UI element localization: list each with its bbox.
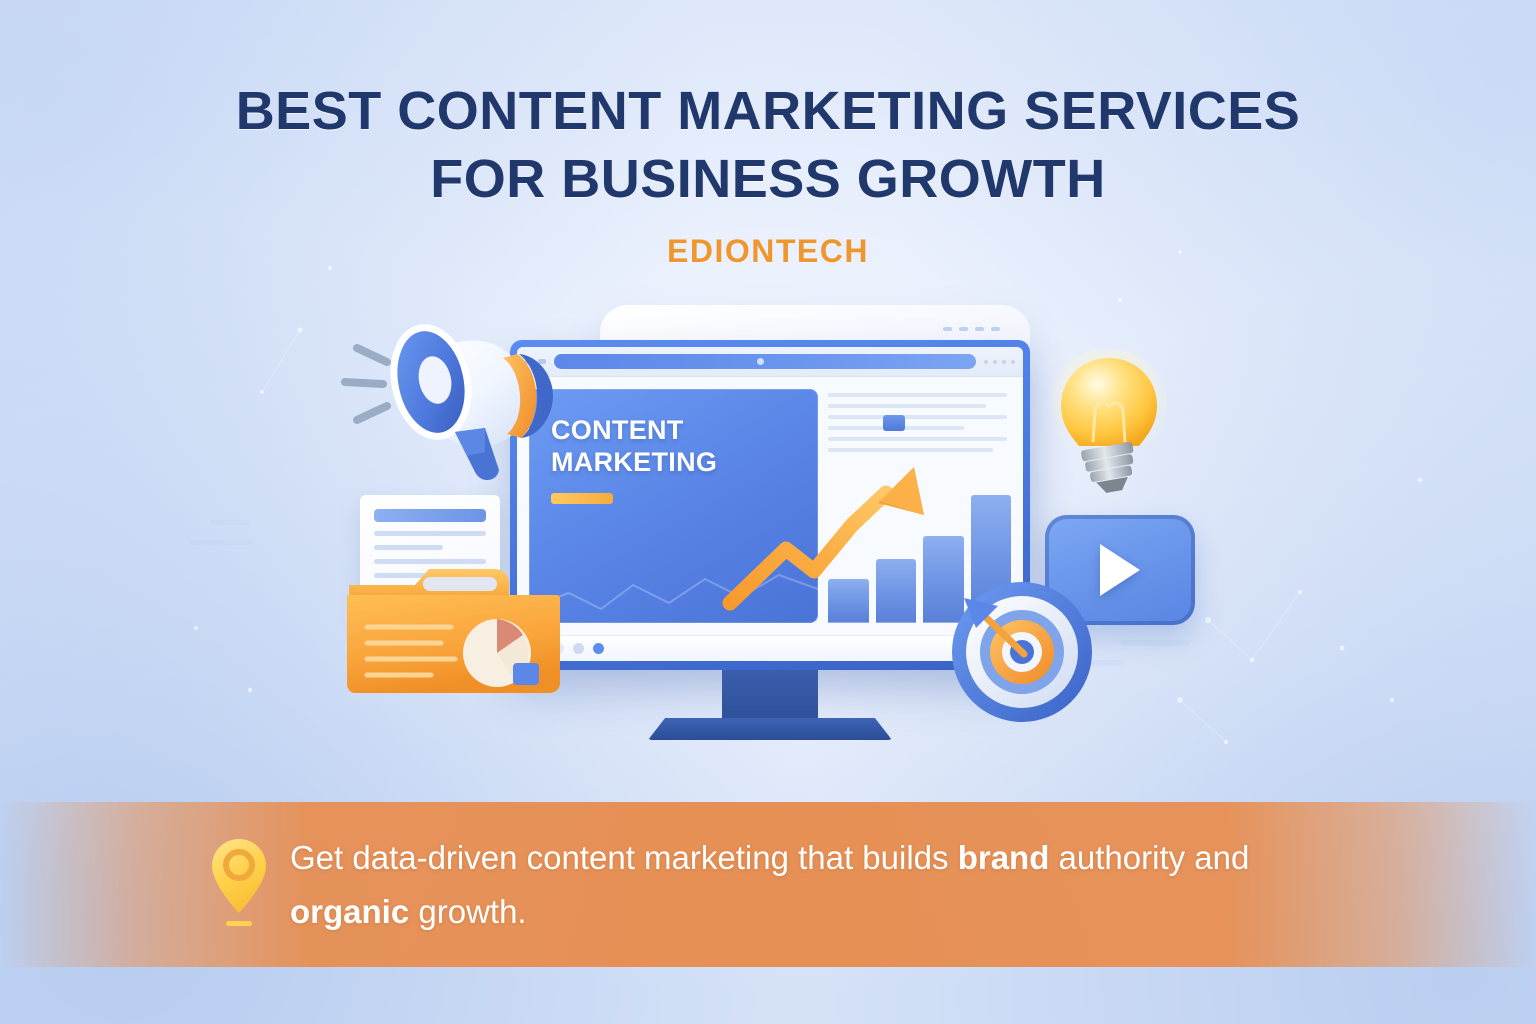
caption-part-1: Get data-driven content marketing that b…: [290, 839, 958, 876]
url-bar[interactable]: [554, 354, 976, 369]
monitor-screen: CONTENT MARKETING: [517, 347, 1023, 661]
footer-dot-3[interactable]: [573, 643, 584, 654]
caption-part-3: growth.: [409, 893, 526, 930]
monitor-stand-base: [648, 718, 892, 740]
marketing-banner: BEST CONTENT MARKETING SERVICES FOR BUSI…: [0, 0, 1536, 1024]
target-icon: [950, 580, 1095, 725]
text-lines-decoration: [828, 393, 1007, 452]
caption-bar: Get data-driven content marketing that b…: [0, 802, 1536, 967]
brand-name: EDIONTECH: [0, 233, 1536, 270]
caption-part-2: authority and: [1049, 839, 1249, 876]
accent-underline: [551, 493, 613, 504]
illustration-stage: CONTENT MARKETING: [300, 300, 1250, 770]
document-highlight-line: [374, 509, 486, 522]
trend-arrow-icon: [728, 453, 938, 613]
megaphone-icon: [335, 310, 575, 485]
title-line-2: FOR BUSINESS GROWTH: [0, 146, 1536, 214]
screen-footer: [517, 635, 1023, 661]
back-panel-dots: [943, 327, 1000, 331]
folder-icon: [345, 555, 560, 695]
lightbulb-icon: [1045, 350, 1175, 500]
browser-chrome: [517, 347, 1023, 377]
floating-chip-icon: [883, 415, 905, 431]
screen-body: CONTENT MARKETING: [517, 377, 1023, 635]
banner-header: BEST CONTENT MARKETING SERVICES FOR BUSI…: [0, 78, 1536, 270]
monitor-stand-neck: [722, 670, 818, 722]
caption-bold-organic: organic: [290, 893, 409, 930]
screen-headline-line-2: MARKETING: [551, 447, 717, 477]
caption-text: Get data-driven content marketing that b…: [290, 831, 1350, 938]
play-triangle-icon: [1100, 544, 1140, 596]
caption-bold-brand: brand: [958, 839, 1050, 876]
title-line-1: BEST CONTENT MARKETING SERVICES: [236, 81, 1301, 141]
page-title: BEST CONTENT MARKETING SERVICES FOR BUSI…: [0, 78, 1536, 213]
document-line: [374, 531, 486, 536]
document-line: [374, 545, 443, 550]
map-pin-icon: [210, 837, 268, 933]
chrome-menu-dots-icon[interactable]: [984, 360, 1015, 364]
footer-dot-active[interactable]: [593, 643, 604, 654]
